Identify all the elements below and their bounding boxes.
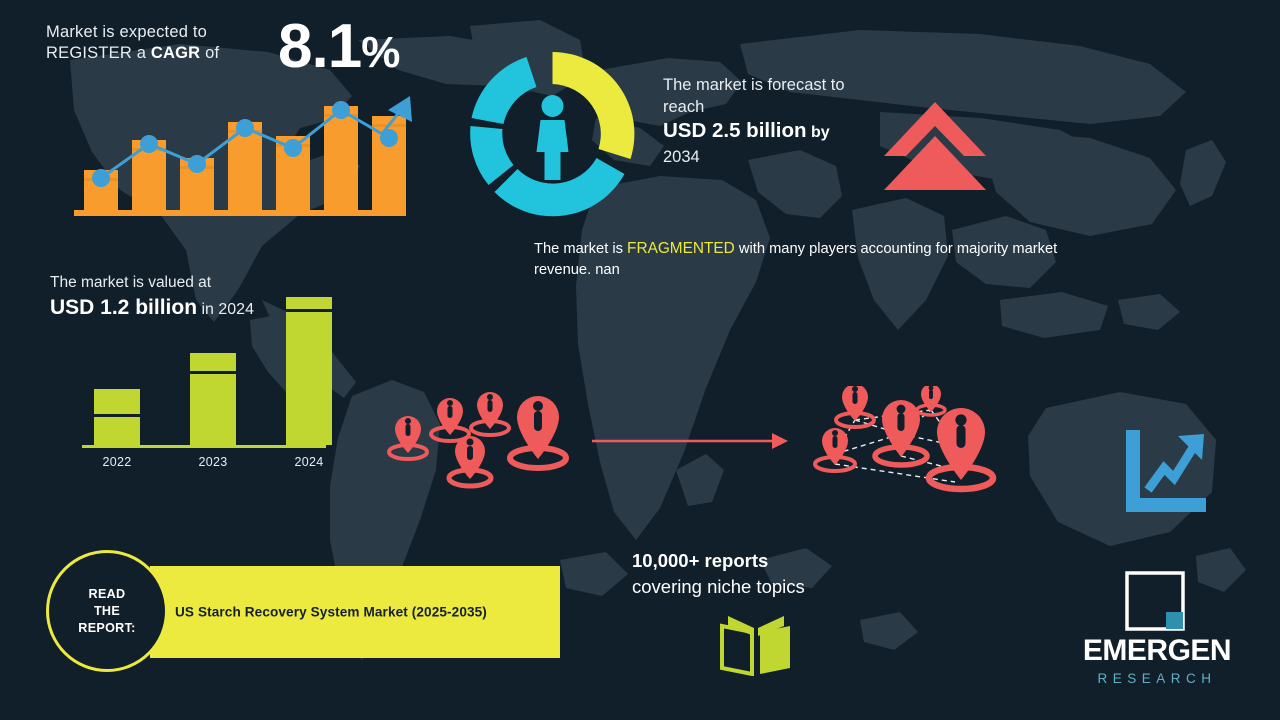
market-share-donut-chart (465, 48, 640, 220)
bar-2022-divider (94, 414, 140, 417)
fragmented-statement: The market is FRAGMENTED with many playe… (534, 238, 1206, 281)
bar-2023 (190, 353, 236, 445)
market-value-bar-chart: 2022 2023 2024 (78, 296, 330, 471)
donut-slice-d (472, 57, 537, 124)
double-chevron-up-icon (880, 98, 990, 190)
forecast-lead-line-2: reach (663, 96, 898, 118)
forecast-lead-line-1: The market is forecast to (663, 74, 898, 96)
forecast-value: USD 2.5 billion by (663, 118, 898, 146)
logo-brand-subtitle: RESEARCH (1062, 670, 1252, 688)
map-pins-scattered (382, 386, 574, 494)
infographic-canvas: Market is expected to REGISTER a CAGR of… (0, 0, 1280, 720)
bar-label-2024: 2024 (280, 455, 338, 469)
logo-brand-name: EMERGEN (1062, 632, 1252, 670)
cagr-block: Market is expected to REGISTER a CAGR of… (46, 22, 466, 64)
map-pins-network (805, 386, 1003, 498)
fragmented-line-2: revenue. nan (534, 260, 1206, 281)
cagr-percent-symbol: % (361, 28, 399, 77)
read-report-banner[interactable]: US Starch Recovery System Market (2025-2… (150, 566, 560, 658)
bar-label-2023: 2023 (184, 455, 242, 469)
cagr-keyword: CAGR (151, 44, 200, 62)
reports-count: 10,000+ reports (632, 548, 932, 574)
valued-lead: The market is valued at (50, 272, 350, 294)
report-title: US Starch Recovery System Market (2025-2… (175, 605, 487, 620)
forecast-amount: USD 2.5 billion (663, 119, 807, 142)
read-report-line-2: THE (78, 603, 135, 620)
read-report-button[interactable]: READ THE REPORT: (46, 550, 168, 672)
bar-label-2022: 2022 (88, 455, 146, 469)
donut-slice-c (470, 126, 513, 185)
bar-2024-divider (286, 309, 332, 312)
bar-2022 (94, 389, 140, 445)
growth-chart-icon (1120, 428, 1208, 516)
cagr-number: 8.1 (278, 12, 361, 81)
bar-2024 (286, 297, 332, 445)
cagr-lead-line-1: Market is expected to (46, 22, 238, 43)
green-chart-baseline (82, 445, 326, 448)
emergen-research-logo: EMERGEN RESEARCH (1062, 570, 1252, 696)
right-arrow-icon (592, 430, 788, 452)
open-book-icon (718, 614, 794, 676)
read-report-line-1: READ (78, 586, 135, 603)
chart-baseline (74, 210, 406, 216)
forecast-by-word: by (807, 124, 830, 141)
growth-trend-chart (70, 82, 415, 222)
reports-count-block: 10,000+ reports covering niche topics (632, 548, 932, 600)
cagr-value: 8.1% (278, 16, 399, 78)
person-icon (537, 95, 569, 180)
fragmented-prefix: The market is (534, 241, 627, 257)
logo-mark-icon (1124, 570, 1186, 632)
fragmented-highlight: FRAGMENTED (627, 240, 735, 257)
fragmented-suffix: with many players accounting for majorit… (735, 241, 1057, 257)
cagr-lead-suffix: of (200, 44, 219, 62)
forecast-year: 2034 (663, 146, 898, 168)
bar-2023-divider (190, 371, 236, 374)
reports-description: covering niche topics (632, 574, 932, 600)
cagr-lead-line-2: REGISTER a CAGR of (46, 43, 238, 64)
forecast-block: The market is forecast to reach USD 2.5 … (663, 74, 898, 168)
fragmented-line-1: The market is FRAGMENTED with many playe… (534, 238, 1206, 260)
cagr-lead-prefix: REGISTER a (46, 44, 151, 62)
read-report-label: READ THE REPORT: (78, 586, 135, 637)
read-report-line-3: REPORT: (78, 620, 135, 637)
